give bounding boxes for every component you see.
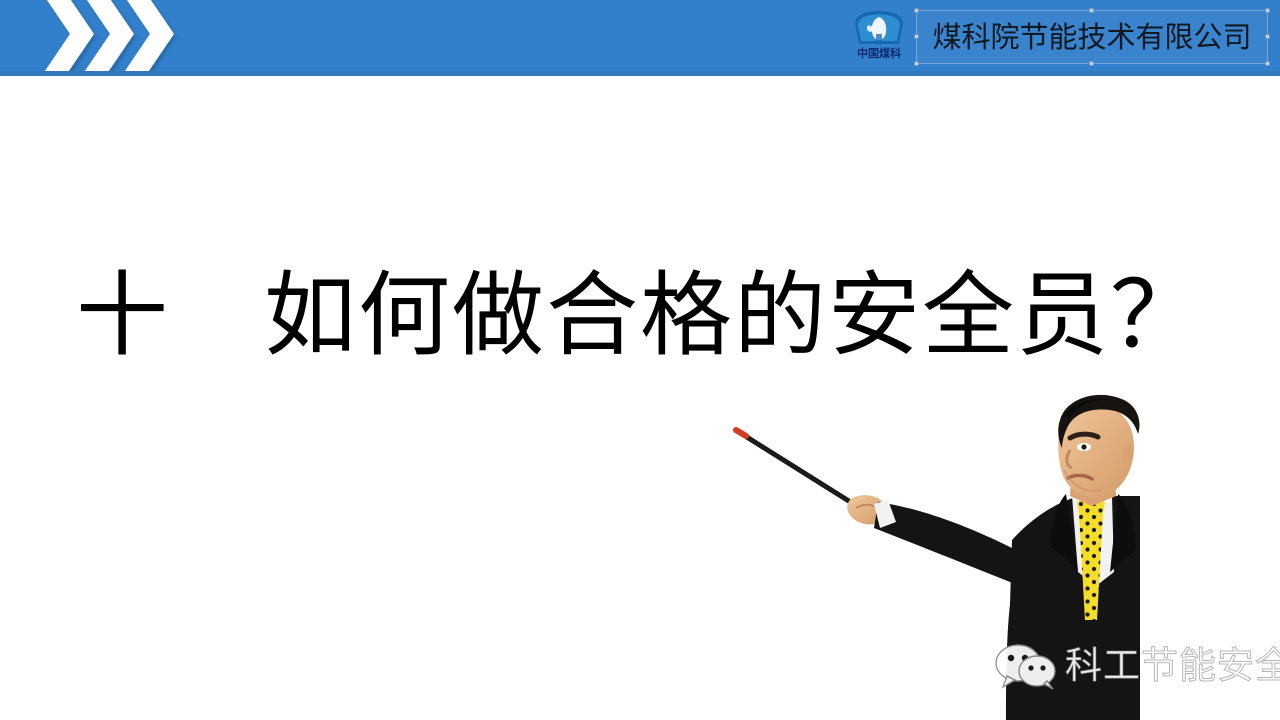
slide-title: 十 如何做合格的安全员？ [0, 262, 1280, 370]
resize-handle-bottom-left[interactable] [914, 61, 919, 66]
resize-handle-middle-right[interactable] [1265, 34, 1270, 39]
resize-handle-top-right[interactable] [1265, 8, 1270, 13]
double-chevron-right-icon [34, 0, 214, 76]
header-bottom-shade [0, 71, 1280, 76]
resize-handle-middle-left[interactable] [914, 34, 919, 39]
zhongguo-meike-logo-icon [851, 10, 907, 48]
wechat-icon [995, 642, 1057, 690]
watermark-text: 科工节能安全 [1065, 646, 1280, 686]
slide-canvas: 中国煤科 煤科院节能技术有限公司 十 如何做合格的安全员？ [0, 0, 1280, 720]
logo-caption: 中国煤科 [845, 48, 913, 60]
company-logo: 中国煤科 [845, 8, 913, 70]
wechat-watermark: 科工节能安全 [995, 638, 1275, 694]
pointer-stick-icon [736, 430, 860, 508]
resize-handle-bottom-center[interactable] [1089, 61, 1094, 66]
resize-handle-top-center[interactable] [1089, 8, 1094, 13]
resize-handle-top-left[interactable] [914, 8, 919, 13]
resize-handle-bottom-right[interactable] [1265, 61, 1270, 66]
company-name-text: 煤科院节能技术有限公司 [932, 23, 1251, 52]
company-name-textbox[interactable]: 煤科院节能技术有限公司 [916, 10, 1268, 64]
